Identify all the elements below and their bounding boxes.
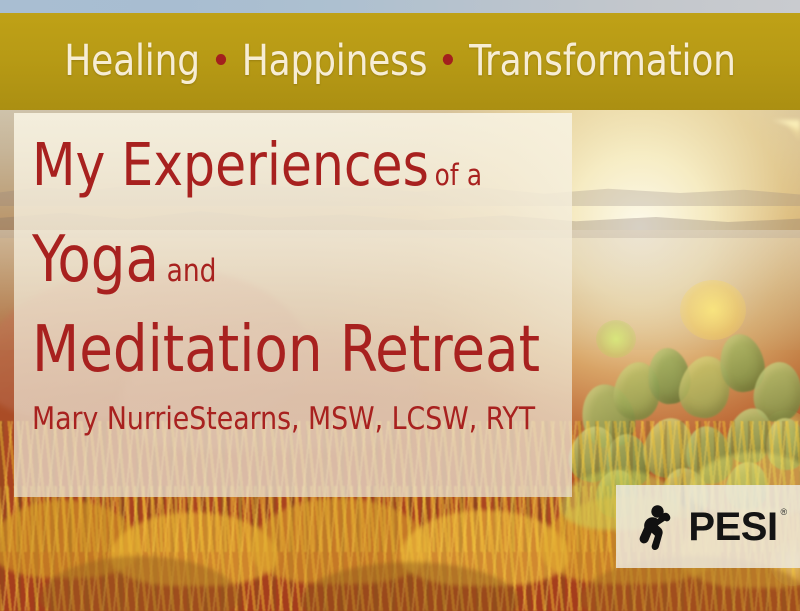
tagline-word-transformation: Transformation (467, 40, 737, 83)
promo-banner: Healing Happiness Transformation My Expe… (0, 0, 800, 611)
title-small-of-a: of a (435, 158, 483, 192)
registered-trademark-icon: ® (780, 508, 786, 517)
title-main-yoga: Yoga (32, 223, 159, 297)
sky-strip (0, 0, 800, 13)
title-main-meditation-retreat: Meditation Retreat (32, 313, 540, 387)
author-byline: Mary NurrieStearns, MSW, LCSW, RYT (32, 404, 550, 435)
tagline: Healing Happiness Transformation (62, 40, 737, 83)
pesi-leaping-figure-icon (638, 504, 680, 550)
pesi-wordmark: PESI ® (688, 507, 777, 547)
tagline-word-happiness: Happiness (240, 40, 429, 83)
title-main-experiences: My Experiences (32, 130, 429, 199)
title-line-3: Meditation Retreat (32, 318, 545, 382)
title-line-2: Yogaand (32, 228, 545, 292)
tagline-band: Healing Happiness Transformation (0, 13, 800, 110)
tagline-word-healing: Healing (62, 40, 201, 83)
pesi-logo-plate[interactable]: PESI ® (616, 485, 800, 568)
title-small-and: and (167, 253, 217, 289)
title-line-1: My Experiencesof a (32, 135, 545, 194)
pesi-brand-text: PESI (688, 505, 777, 549)
title-panel: My Experiencesof a Yogaand Meditation Re… (14, 113, 572, 497)
bullet-dot-icon (216, 54, 226, 65)
bullet-dot-icon (443, 54, 453, 65)
